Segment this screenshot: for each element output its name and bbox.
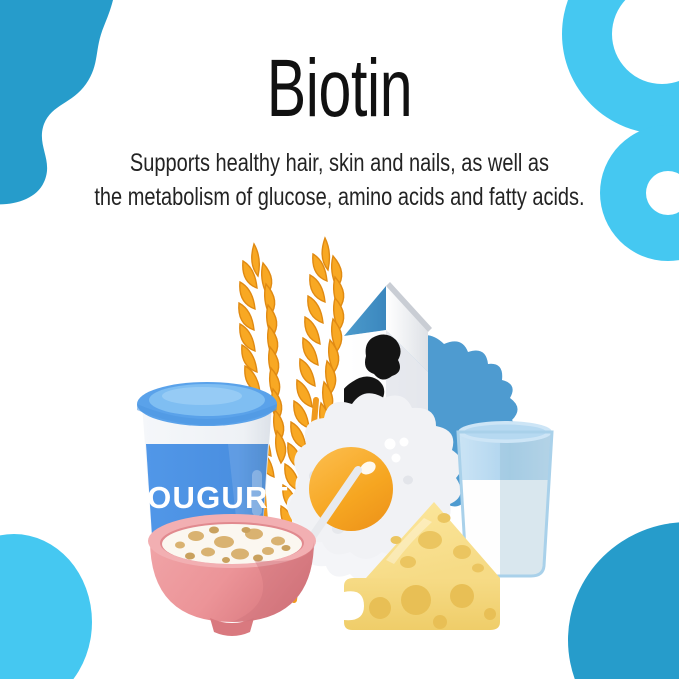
yogurt-label-text: YOUGURT xyxy=(125,480,288,515)
biotin-food-illustration: YOUGURT xyxy=(0,0,679,679)
biotin-poster: Biotin Supports healthy hair, skin and n… xyxy=(0,0,679,679)
